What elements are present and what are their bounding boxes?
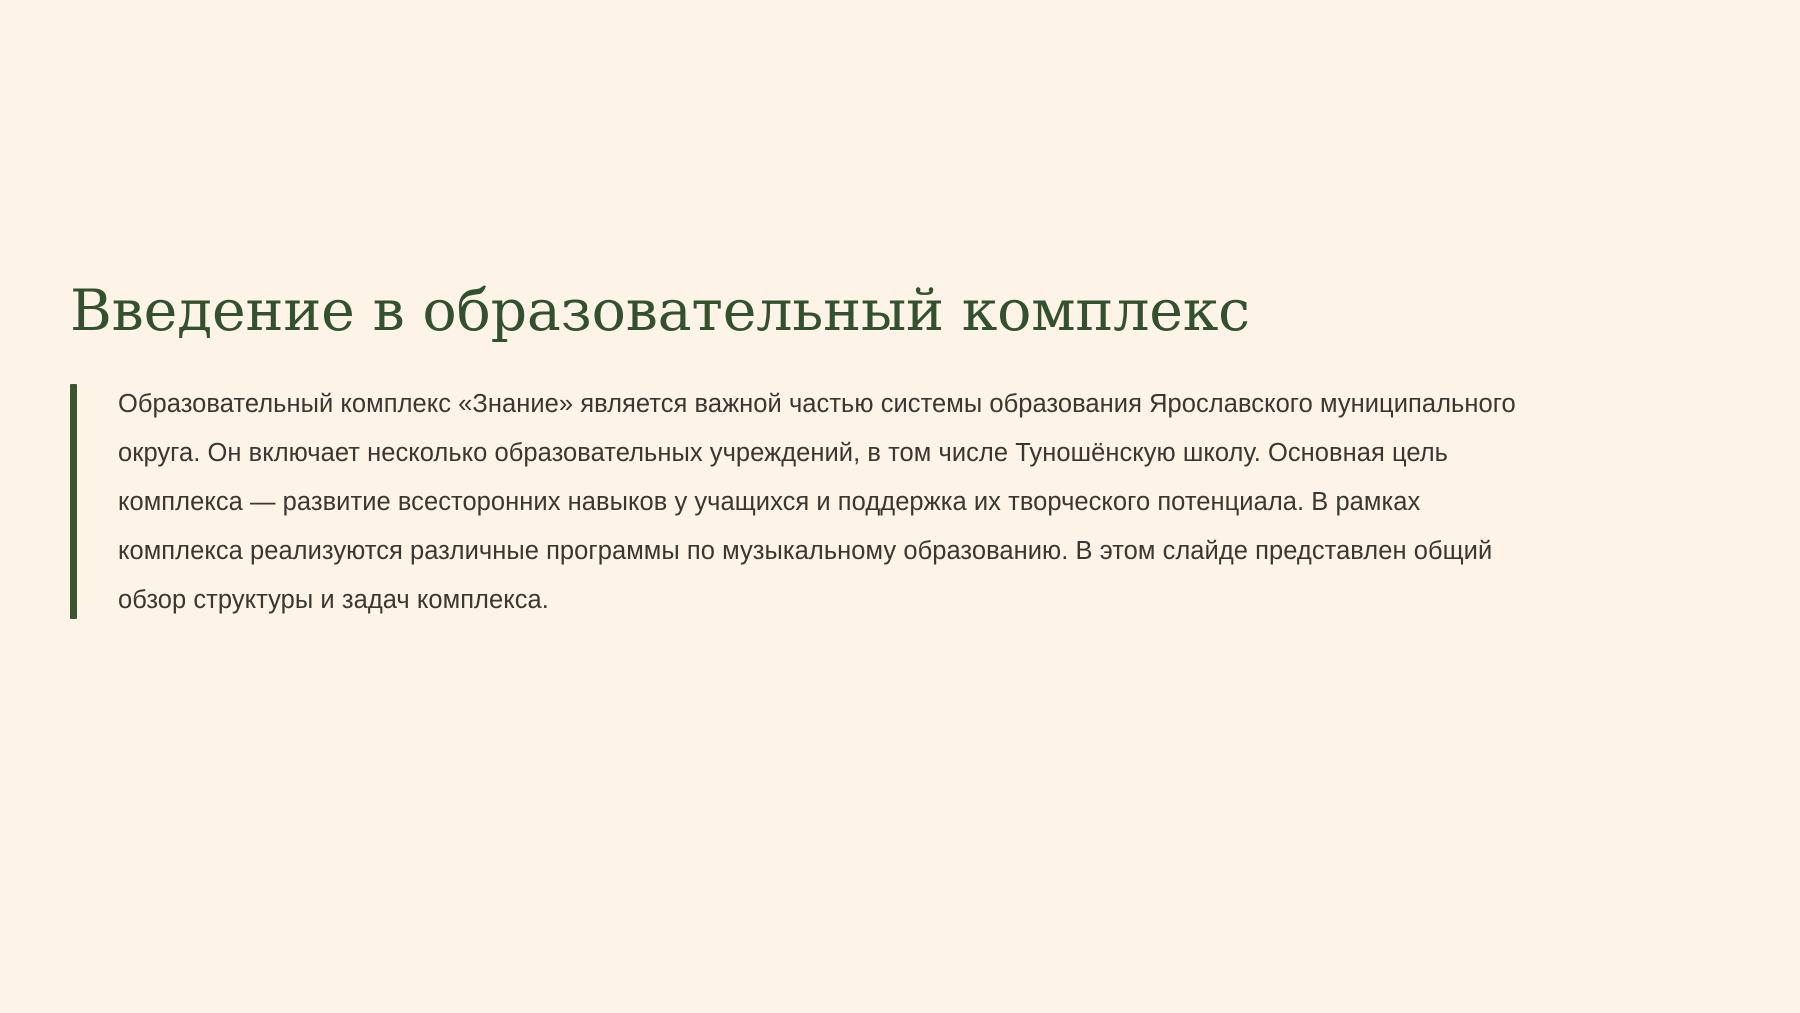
body-callout-block: Образовательный комплекс «Знание» являет… [70,380,1710,625]
body-paragraph: Образовательный комплекс «Знание» являет… [118,380,1538,625]
accent-bar [70,384,77,619]
slide-canvas: Введение в образовательный комплекс Обра… [0,0,1800,1013]
slide-content: Введение в образовательный комплекс Обра… [70,280,1710,625]
body-text-container: Образовательный комплекс «Знание» являет… [77,380,1710,625]
page-title: Введение в образовательный комплекс [70,280,1710,344]
